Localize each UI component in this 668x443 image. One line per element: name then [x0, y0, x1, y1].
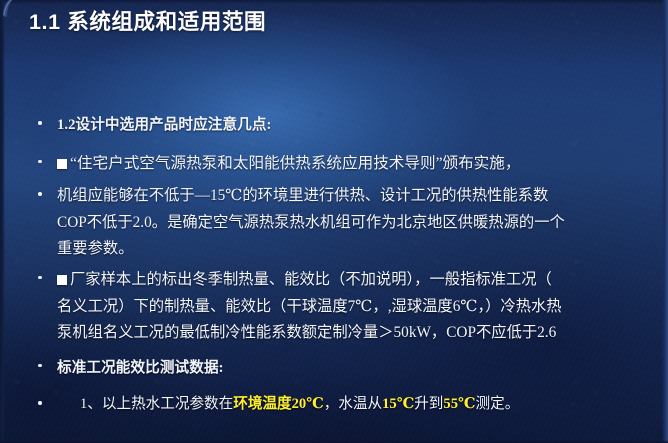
plain-text: 测定。	[476, 396, 520, 412]
bullet-dot-icon	[38, 160, 42, 164]
page-title: 1.1 系统组成和适用范围	[29, 8, 266, 36]
plain-text: 1、以上热水工况参数在	[80, 396, 233, 412]
bullet-dot-icon	[38, 276, 42, 280]
title-bar: 1.1 系统组成和适用范围	[0, 4, 668, 40]
plain-text: 升到	[414, 396, 443, 412]
filled-square-icon	[57, 159, 67, 169]
highlighted-text: 55℃	[443, 396, 475, 412]
list-item-body: 厂家样本上的标出冬季制热量、能效比（不加说明），一般指标准工况（ 名义工况）下的…	[57, 271, 562, 341]
filled-square-icon	[57, 275, 67, 285]
list-item: 1、以上热水工况参数在环境温度20℃，水温从15℃升到55℃测定。	[0, 391, 668, 418]
list-item: 厂家样本上的标出冬季制热量、能效比（不加说明），一般指标准工况（ 名义工况）下的…	[0, 267, 668, 347]
list-item-text: “住宅户式空气源热泵和太阳能供热系统应用技术导则”颁布实施，	[57, 151, 662, 178]
list-item: 1.2设计中选用产品时应注意几点:	[0, 112, 668, 139]
bullet-dot-icon	[38, 364, 42, 368]
list-item-text: 厂家样本上的标出冬季制热量、能效比（不加说明），一般指标准工况（ 名义工况）下的…	[57, 267, 662, 347]
list-item-text: 标准工况能效比测试数据:	[57, 355, 662, 382]
bullet-dot-icon	[38, 401, 42, 405]
highlighted-text: 15℃	[382, 396, 414, 412]
bullet-dot-icon	[38, 121, 42, 125]
list-item-text: 1.2设计中选用产品时应注意几点:	[57, 112, 662, 139]
list-item: 机组应能够在不低于—15℃的环境里进行供热、设计工况的供热性能系数 COP不低于…	[0, 183, 668, 263]
list-item: 标准工况能效比测试数据:	[0, 355, 668, 382]
plain-text: ，水温从	[324, 396, 382, 412]
list-item-body: “住宅户式空气源热泵和太阳能供热系统应用技术导则”颁布实施，	[70, 155, 520, 172]
list-item-text: 机组应能够在不低于—15℃的环境里进行供热、设计工况的供热性能系数 COP不低于…	[57, 183, 662, 263]
slide-canvas: 1.1 系统组成和适用范围 1.2设计中选用产品时应注意几点: “住宅户式空气源…	[0, 0, 668, 443]
highlighted-text: 环境温度20℃	[233, 396, 323, 412]
list-item: “住宅户式空气源热泵和太阳能供热系统应用技术导则”颁布实施，	[0, 151, 668, 178]
list-item-text: 1、以上热水工况参数在环境温度20℃，水温从15℃升到55℃测定。	[80, 391, 662, 418]
bullet-dot-icon	[38, 192, 42, 196]
bullet-list: 1.2设计中选用产品时应注意几点: “住宅户式空气源热泵和太阳能供热系统应用技术…	[0, 112, 668, 418]
